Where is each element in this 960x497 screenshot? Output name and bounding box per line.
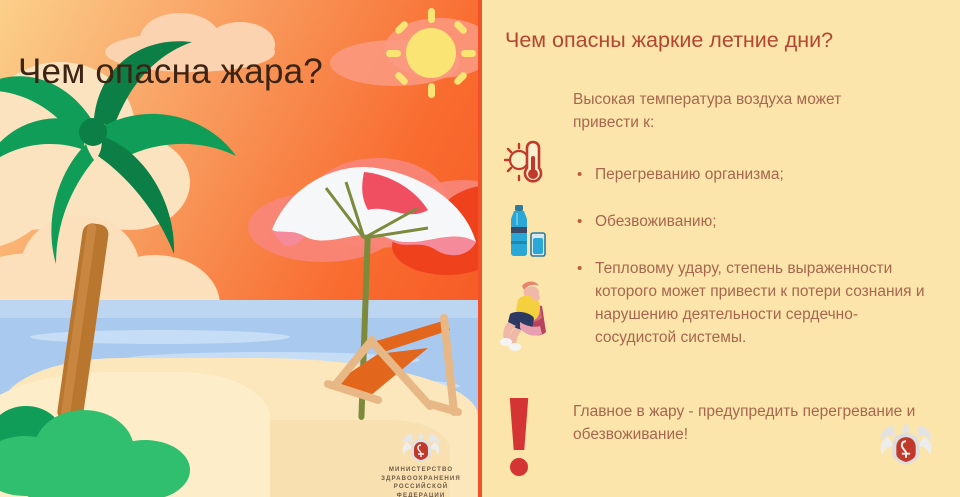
- deck-chair-icon: [318, 300, 468, 430]
- right-panel-title: Чем опасны жаркие летние дни?: [505, 28, 833, 53]
- sun-ray: [428, 83, 435, 98]
- thermometer-sun-icon: [504, 136, 548, 190]
- heat-danger-poster: Чем опасна жара? МИНИСТЕРСТВО ЗДРАВООХРА…: [0, 0, 960, 497]
- ministry-of-health-emblem: [400, 430, 442, 464]
- sun-icon: [406, 28, 456, 78]
- ministry-block-right: [877, 420, 937, 473]
- sun-ray: [461, 50, 476, 57]
- list-item: Тепловому удару, степень выраженности ко…: [573, 257, 933, 349]
- bullet-list: Перегреванию организма; Обезвоживанию; Т…: [573, 163, 933, 349]
- ministry-line-3: РОССИЙСКОЙ ФЕДЕРАЦИИ: [370, 483, 472, 497]
- left-panel-title: Чем опасна жара?: [18, 52, 323, 92]
- ministry-line-1: МИНИСТЕРСТВО: [370, 466, 472, 475]
- beach-umbrella-icon: [268, 166, 478, 286]
- intro-text: Высокая температура воздуха может привес…: [573, 88, 903, 134]
- water-bottle-glass-icon: [504, 205, 548, 260]
- ministry-block-left: МИНИСТЕРСТВО ЗДРАВООХРАНЕНИЯ РОССИЙСКОЙ …: [370, 430, 472, 497]
- exclamation-mark-icon: [508, 398, 532, 480]
- list-item: Обезвоживанию;: [573, 210, 933, 233]
- sun-ray: [428, 8, 435, 23]
- ministry-of-health-emblem: [877, 420, 935, 468]
- left-illustration-panel: Чем опасна жара? МИНИСТЕРСТВО ЗДРАВООХРА…: [0, 0, 478, 497]
- right-text-panel: Чем опасны жаркие летние дни? Высокая те…: [482, 0, 960, 497]
- fainting-person-icon: [500, 272, 552, 352]
- sun-ray: [386, 50, 401, 57]
- list-item: Перегреванию организма;: [573, 163, 933, 186]
- foreground-bush: [0, 400, 210, 497]
- ministry-line-2: ЗДРАВООХРАНЕНИЯ: [370, 475, 472, 484]
